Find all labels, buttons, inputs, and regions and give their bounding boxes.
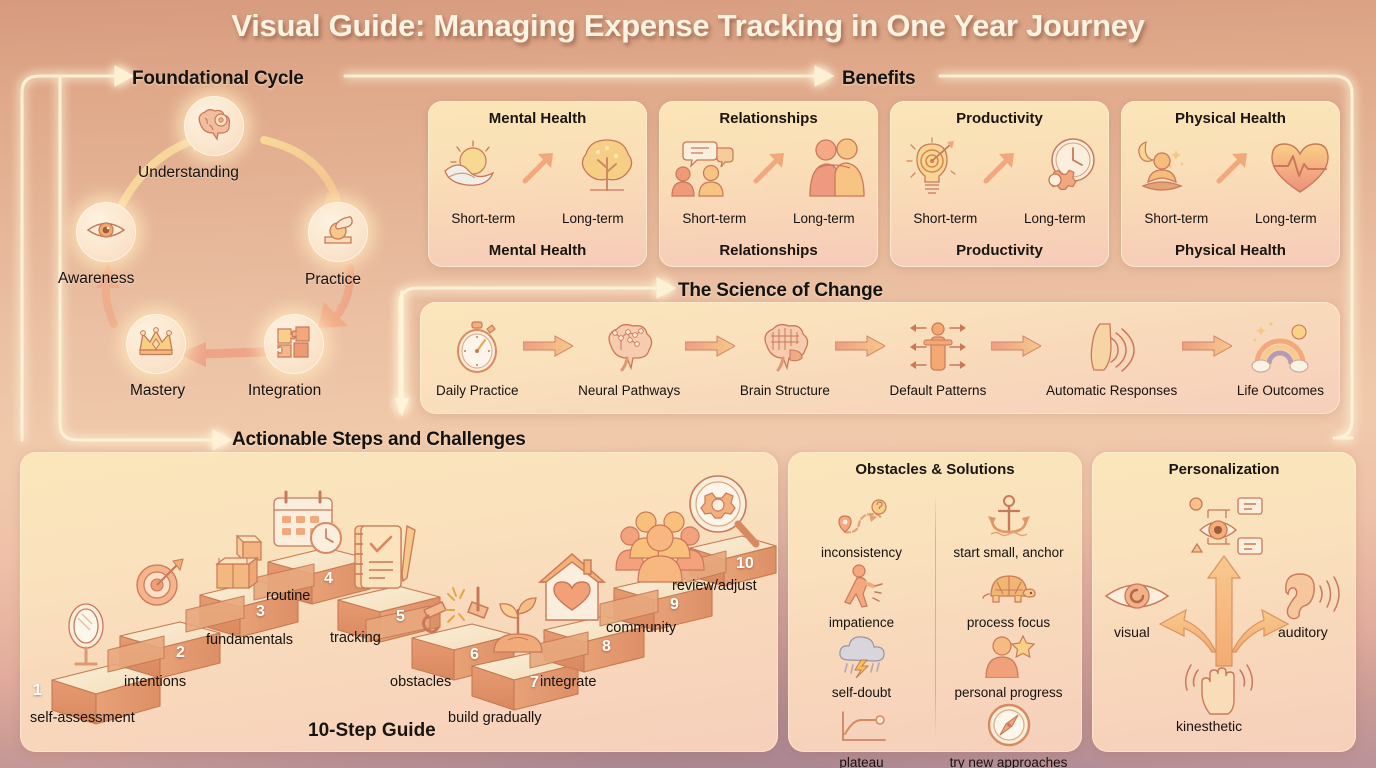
long-term-label: Long-term [793, 211, 855, 226]
section-label-benefits: Benefits [842, 68, 915, 90]
cycle-label-understanding: Understanding [138, 164, 239, 182]
step-number: 3 [256, 603, 265, 621]
cycle-node-understanding[interactable] [184, 96, 244, 156]
step-label: community [606, 620, 676, 636]
anchor-icon [983, 494, 1035, 543]
ear-icon [1274, 570, 1344, 627]
brain-structure-icon [758, 320, 812, 379]
neural-brain-icon [601, 320, 657, 379]
stopwatch-icon [453, 320, 501, 379]
science-step[interactable]: Brain Structure [740, 320, 830, 398]
step-label: intentions [124, 674, 186, 690]
benefit-card-mental-health[interactable]: Mental Health [428, 101, 647, 267]
science-step-label: Default Patterns [890, 383, 987, 398]
cycle-node-mastery[interactable] [126, 314, 186, 374]
short-term-label: Short-term [1144, 211, 1208, 226]
obstacle-item[interactable]: self-doubt [788, 630, 935, 700]
mode-label-auditory: auditory [1278, 624, 1328, 640]
clock-gear-icon [1035, 136, 1101, 203]
science-arrow-icon [991, 334, 1041, 358]
section-label-science: The Science of Change [678, 280, 883, 302]
solution-label: process focus [967, 615, 1050, 630]
cycle-node-integration[interactable] [264, 314, 324, 374]
eye-icon [86, 217, 126, 248]
obstacle-item[interactable]: inconsistency [788, 490, 935, 560]
hand-coin-icon [319, 213, 357, 252]
obstacle-label: impatience [829, 615, 894, 630]
person-star-icon [982, 634, 1036, 683]
science-step[interactable]: Daily Practice [436, 320, 519, 398]
compass-icon [985, 702, 1033, 753]
turtle-icon [981, 568, 1037, 613]
storm-cloud-icon [835, 634, 889, 683]
short-term-label: Short-term [451, 211, 515, 226]
tree-icon [576, 136, 638, 203]
benefit-title-top: Relationships [659, 110, 878, 127]
brain-icon [194, 107, 234, 146]
obstacle-label: self-doubt [832, 685, 891, 700]
section-label-actionable: Actionable Steps and Challenges [232, 429, 526, 451]
step-label: build gradually [448, 710, 542, 726]
mode-label-visual: visual [1114, 624, 1150, 640]
obstacle-item[interactable]: impatience [788, 560, 935, 630]
obstacles-solutions-panel: Obstacles & Solutions inconsistency [788, 452, 1082, 752]
solution-label: try new approaches [950, 755, 1068, 768]
benefit-card-relationships[interactable]: Relationships [659, 101, 878, 267]
step-number: 6 [470, 646, 479, 664]
solution-item[interactable]: process focus [935, 560, 1082, 630]
step-number: 2 [176, 644, 185, 662]
long-term-label: Long-term [562, 211, 624, 226]
science-step[interactable]: Life Outcomes [1237, 320, 1324, 398]
science-step[interactable]: Neural Pathways [578, 320, 680, 398]
cycle-label-integration: Integration [248, 382, 321, 400]
step-number: 8 [602, 638, 611, 656]
obstacle-label: inconsistency [821, 545, 902, 560]
step-label: tracking [330, 630, 381, 646]
puzzle-icon [275, 324, 313, 365]
benefit-card-productivity[interactable]: Productivity [890, 101, 1109, 267]
cycle-label-awareness: Awareness [58, 270, 134, 288]
benefit-title-bottom: Physical Health [1121, 242, 1340, 259]
growth-arrow-icon [752, 149, 788, 190]
science-step[interactable]: Automatic Responses [1046, 320, 1177, 398]
step-label: fundamentals [206, 632, 293, 648]
step-number: 7 [530, 674, 539, 692]
lightbulb-target-icon [899, 136, 965, 203]
science-arrow-icon [1182, 334, 1232, 358]
personalization-panel: Personalization [1092, 452, 1356, 752]
short-term-label: Short-term [682, 211, 746, 226]
science-step-label: Neural Pathways [578, 383, 680, 398]
obstacles-title: Obstacles & Solutions [788, 461, 1082, 478]
growth-arrow-icon [521, 149, 557, 190]
section-label-foundational: Foundational Cycle [132, 68, 304, 90]
crown-icon [136, 326, 176, 363]
person-arrows-icon [902, 320, 974, 379]
mode-label-kinesthetic: kinesthetic [1176, 718, 1242, 734]
solution-item[interactable]: start small, anchor [935, 490, 1082, 560]
step-label: obstacles [390, 674, 451, 690]
step-label: routine [266, 588, 310, 604]
solution-item[interactable]: personal progress [935, 630, 1082, 700]
science-arrow-icon [835, 334, 885, 358]
sunrise-wave-icon [437, 137, 503, 202]
science-step-label: Daily Practice [436, 383, 519, 398]
benefit-card-physical-health[interactable]: Physical Health [1121, 101, 1340, 267]
cycle-node-practice[interactable] [308, 202, 368, 262]
conversation-icon [667, 136, 737, 203]
cycle-node-awareness[interactable] [76, 202, 136, 262]
benefit-title-bottom: Mental Health [428, 242, 647, 259]
science-step-label: Brain Structure [740, 383, 830, 398]
growth-arrow-icon [982, 149, 1018, 190]
obstacle-item[interactable]: plateau [788, 700, 935, 768]
ten-step-guide-panel: 1 2 3 4 5 6 7 8 9 10 self-assessment int… [20, 452, 778, 752]
eye-icon [1102, 574, 1172, 623]
hand-touch-icon [1184, 660, 1264, 721]
step-label: review/adjust [672, 578, 757, 594]
running-person-icon [837, 564, 887, 613]
long-term-label: Long-term [1024, 211, 1086, 226]
science-arrow-icon [685, 334, 735, 358]
benefit-title-top: Physical Health [1121, 110, 1340, 127]
cycle-label-practice: Practice [305, 271, 361, 289]
benefit-title-bottom: Productivity [890, 242, 1109, 259]
solution-item[interactable]: try new approaches [935, 700, 1082, 768]
science-arrow-icon [523, 334, 573, 358]
solution-label: start small, anchor [953, 545, 1063, 560]
cycle-label-mastery: Mastery [130, 382, 185, 400]
reflex-hand-icon [1084, 320, 1140, 379]
science-step-label: Life Outcomes [1237, 383, 1324, 398]
step-label: self-assessment [30, 710, 135, 726]
step-number: 4 [324, 570, 333, 588]
benefit-title-bottom: Relationships [659, 242, 878, 259]
step-label: integrate [540, 674, 596, 690]
science-of-change-panel: Daily Practice [420, 302, 1340, 414]
step-number: 1 [33, 682, 42, 700]
science-step[interactable]: Default Patterns [890, 320, 987, 398]
growth-arrow-icon [1215, 149, 1251, 190]
winding-path-icon [835, 498, 889, 543]
heart-pulse-icon [1268, 138, 1332, 201]
benefit-title-top: Productivity [890, 110, 1109, 127]
obstacle-label: plateau [839, 755, 883, 768]
guide-caption: 10-Step Guide [308, 720, 436, 742]
page-title: Visual Guide: Managing Expense Tracking … [0, 8, 1376, 44]
meditation-moon-icon [1130, 136, 1198, 203]
foundational-cycle-panel: Understanding Practice Integration [28, 92, 400, 422]
solutions-column: start small, anchor process focus [935, 490, 1082, 768]
long-term-label: Long-term [1255, 211, 1317, 226]
vision-board-icon [1174, 490, 1274, 561]
rainbow-icon [1249, 320, 1311, 379]
solution-label: personal progress [954, 685, 1062, 700]
hug-icon [804, 136, 870, 203]
flat-line-chart-icon [835, 708, 889, 753]
benefit-title-top: Mental Health [428, 110, 647, 127]
obstacles-column: inconsistency impatience [788, 490, 935, 768]
science-step-label: Automatic Responses [1046, 383, 1177, 398]
step-number: 10 [736, 555, 754, 573]
short-term-label: Short-term [913, 211, 977, 226]
step-number: 5 [396, 608, 405, 626]
step-number: 9 [670, 596, 679, 614]
